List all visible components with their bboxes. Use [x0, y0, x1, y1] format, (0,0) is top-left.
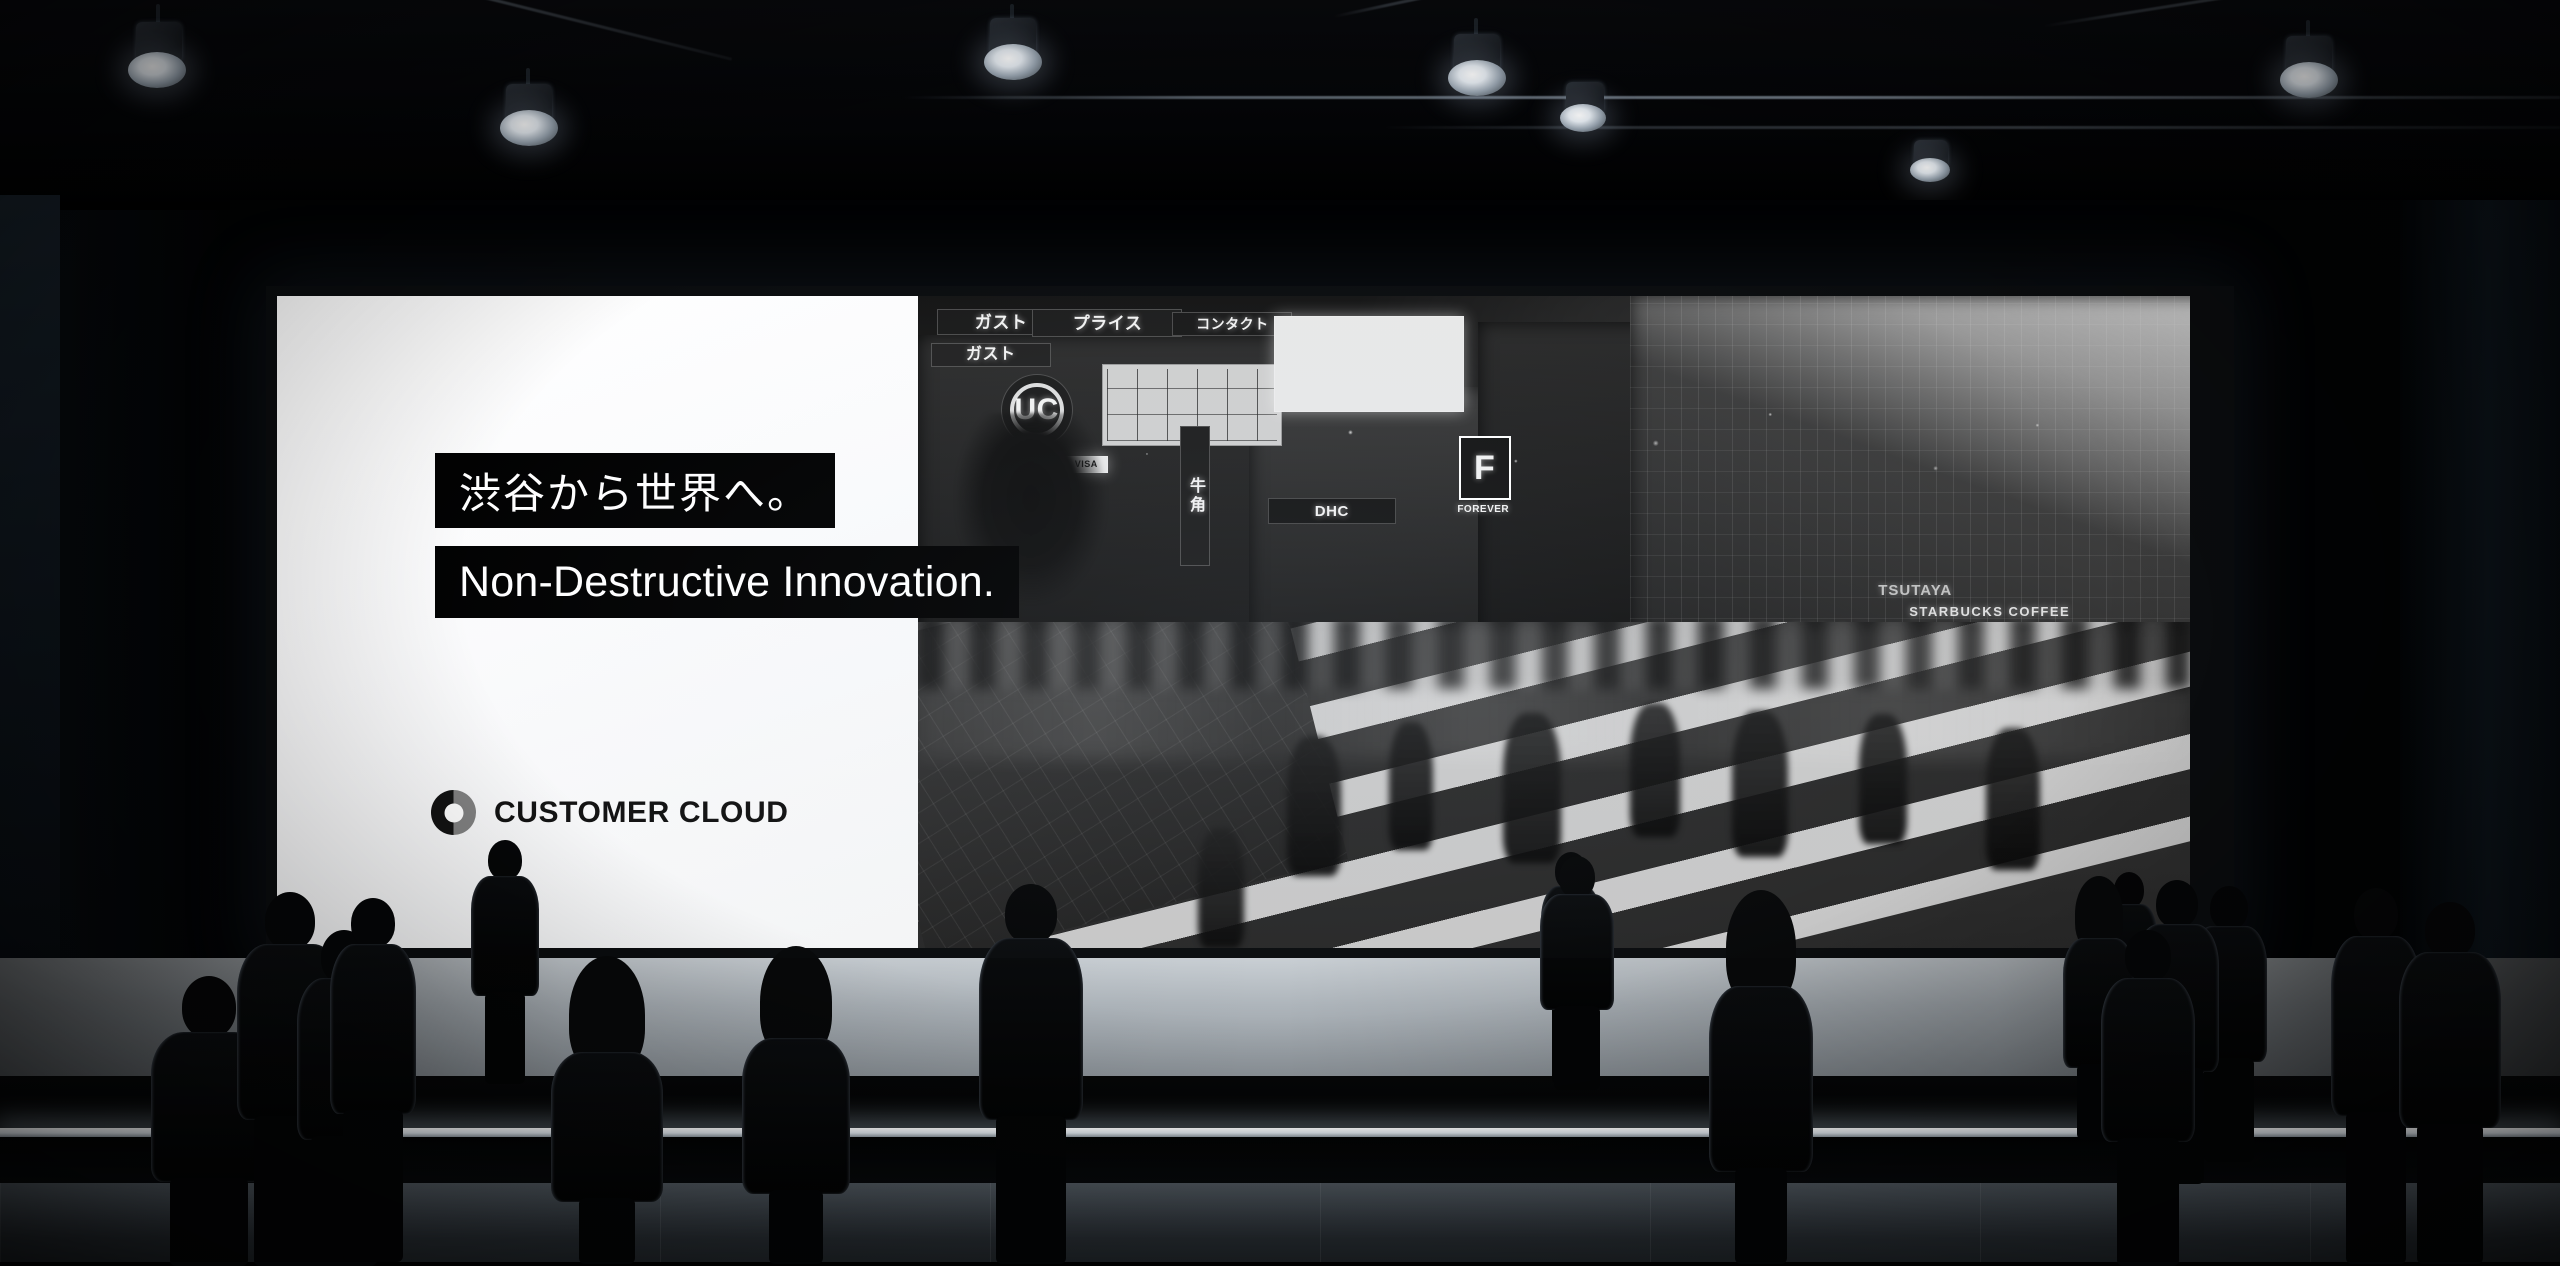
- person-silhouette: [2100, 930, 2196, 1262]
- brand-name: CUSTOMER CLOUD: [494, 796, 789, 830]
- ceiling: [0, 0, 2560, 210]
- sign-vertical: 牛角: [1180, 426, 1210, 566]
- pedestrian-blur: [1503, 713, 1561, 863]
- person-silhouette: [1538, 856, 1616, 1086]
- split-ring-icon: [431, 790, 476, 835]
- left-wall-panel: [0, 195, 60, 1055]
- truss-rail: [1380, 126, 2560, 129]
- sign-price: プライス: [1032, 309, 1182, 337]
- sign-forever21-f: F: [1459, 436, 1511, 500]
- person-silhouette: [470, 840, 540, 1080]
- person-silhouette: [740, 946, 852, 1262]
- headline-japanese-text: 渋谷から世界へ。: [459, 460, 811, 521]
- pedestrian-blur: [1630, 703, 1680, 837]
- pedestrian-blur: [1389, 722, 1433, 850]
- slide-white-panel: 渋谷から世界へ。 Non-Destructive Innovation. CUS…: [277, 296, 918, 948]
- pedestrian-blur: [1732, 711, 1788, 857]
- headline-japanese: 渋谷から世界へ。: [435, 453, 835, 528]
- presentation-screen[interactable]: 渋谷から世界へ。 Non-Destructive Innovation. CUS…: [277, 296, 2190, 948]
- pedestrian-blur: [1986, 728, 2040, 870]
- person-silhouette: [548, 956, 666, 1262]
- pedestrian-blur: [1859, 714, 1907, 844]
- headline-english: Non-Destructive Innovation.: [435, 546, 1019, 618]
- person-silhouette: [330, 898, 416, 1262]
- person-silhouette: [2398, 902, 2502, 1262]
- person-silhouette: [1706, 890, 1816, 1262]
- pedestrian-blur: [1287, 736, 1341, 876]
- slide-photo-panel: ガスト ガスト プライス コンタクト UC VISA 牛角 DHC F FORE…: [918, 296, 2190, 948]
- person-silhouette: [978, 884, 1084, 1262]
- sign-gusto-2: ガスト: [931, 343, 1051, 367]
- headline-english-text: Non-Destructive Innovation.: [459, 558, 995, 607]
- sign-white-billboard: [1274, 316, 1464, 412]
- sign-tsutaya-upper: TSUTAYA: [1840, 580, 1990, 602]
- sign-dhc: DHC: [1268, 498, 1396, 524]
- sign-forever21-word: FOREVER: [1452, 501, 1514, 519]
- pedestrian-blur: [1198, 828, 1244, 948]
- venue-scene: 渋谷から世界へ。 Non-Destructive Innovation. CUS…: [0, 0, 2560, 1262]
- sign-starbucks: STARBUCKS COFFEE: [1885, 601, 2095, 621]
- brand-lockup: CUSTOMER CLOUD: [431, 790, 789, 835]
